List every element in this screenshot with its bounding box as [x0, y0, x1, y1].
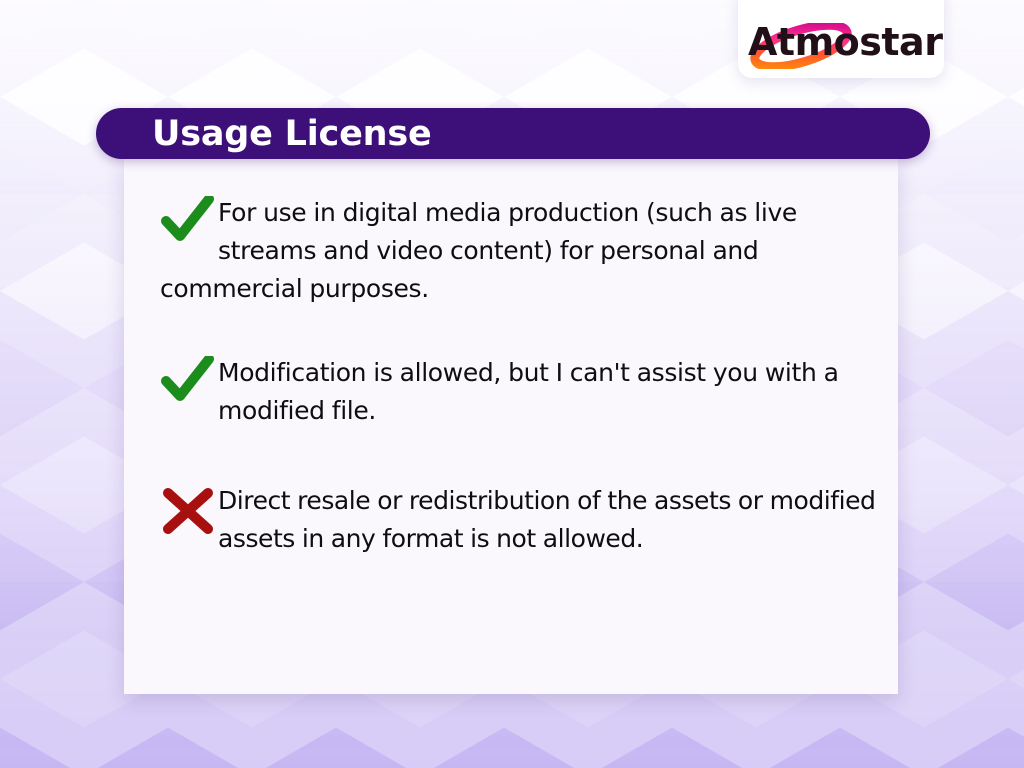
list-item-text: Direct resale or redistribution of the a… — [218, 486, 875, 553]
check-mark-icon — [160, 356, 216, 402]
page-title: Usage License — [152, 114, 432, 154]
list-item-text: Modification is allowed, but I can't ass… — [218, 358, 839, 425]
usage-license-slide: For use in digital media production (suc… — [0, 0, 1024, 768]
cross-mark-icon — [160, 488, 216, 534]
license-items-list: For use in digital media production (suc… — [160, 194, 880, 684]
list-item: For use in digital media production (suc… — [160, 194, 880, 308]
atmostar-logo: Atmostar — [748, 14, 934, 70]
check-mark-icon — [160, 196, 216, 242]
logo-wordmark: Atmostar — [748, 14, 934, 70]
brand-logo-card: Atmostar — [738, 0, 944, 78]
list-item-text: For use in digital media production (suc… — [160, 198, 797, 303]
license-content-card: For use in digital media production (suc… — [124, 158, 898, 694]
header-banner: Usage License — [96, 108, 930, 159]
list-item: Direct resale or redistribution of the a… — [160, 482, 880, 558]
list-item: Modification is allowed, but I can't ass… — [160, 354, 880, 430]
